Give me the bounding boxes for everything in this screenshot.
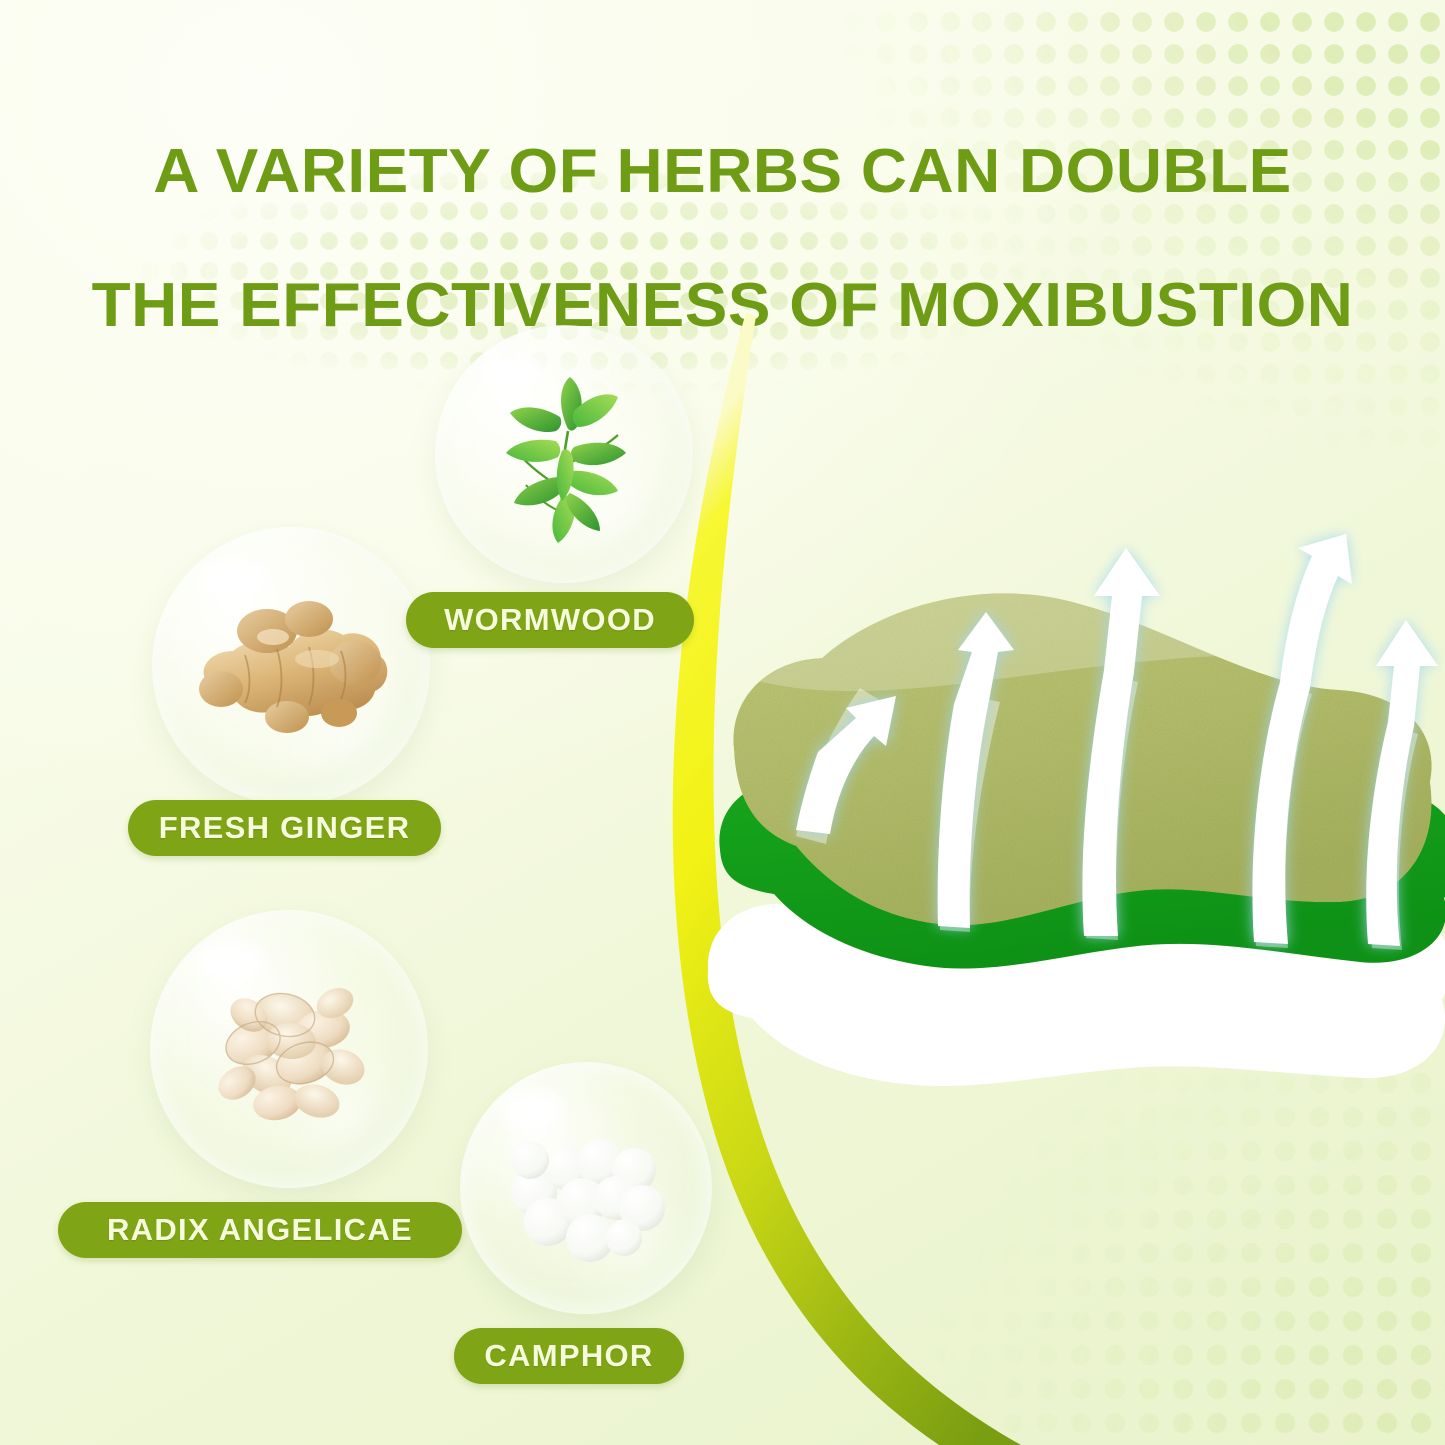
- ingredient-label-text: FRESH GINGER: [159, 810, 411, 846]
- ingredient-label-text: RADIX ANGELICAE: [107, 1212, 413, 1248]
- ingredient-bubble-fresh-ginger[interactable]: [152, 527, 430, 805]
- moxibustion-patch-illustration: [700, 500, 1445, 1120]
- ingredient-label-text: CAMPHOR: [484, 1338, 653, 1374]
- ingredient-label-wormwood[interactable]: WORMWOOD: [406, 592, 694, 648]
- wormwood-sprig-icon: [435, 325, 693, 583]
- title-line-1: A VARIETY OF HERBS CAN DOUBLE: [0, 139, 1445, 206]
- page-title: A VARIETY OF HERBS CAN DOUBLE THE EFFECT…: [0, 72, 1445, 407]
- ingredient-label-fresh-ginger[interactable]: FRESH GINGER: [128, 800, 441, 856]
- infographic-canvas: A VARIETY OF HERBS CAN DOUBLE THE EFFECT…: [0, 0, 1445, 1445]
- ginger-root-icon: [152, 527, 430, 805]
- camphor-balls-icon: [460, 1062, 712, 1314]
- ingredient-label-camphor[interactable]: CAMPHOR: [454, 1328, 684, 1384]
- ingredient-label-radix-angelicae[interactable]: RADIX ANGELICAE: [58, 1202, 462, 1258]
- ingredient-bubble-radix-angelicae[interactable]: [150, 910, 428, 1188]
- ingredient-bubble-camphor[interactable]: [460, 1062, 712, 1314]
- ingredient-label-text: WORMWOOD: [444, 602, 656, 638]
- ingredient-bubble-wormwood[interactable]: [435, 325, 693, 583]
- angelica-slices-icon: [150, 910, 428, 1188]
- herb-layer-sheen: [700, 500, 1445, 691]
- title-line-2: THE EFFECTIVENESS OF MOXIBUSTION: [0, 273, 1445, 340]
